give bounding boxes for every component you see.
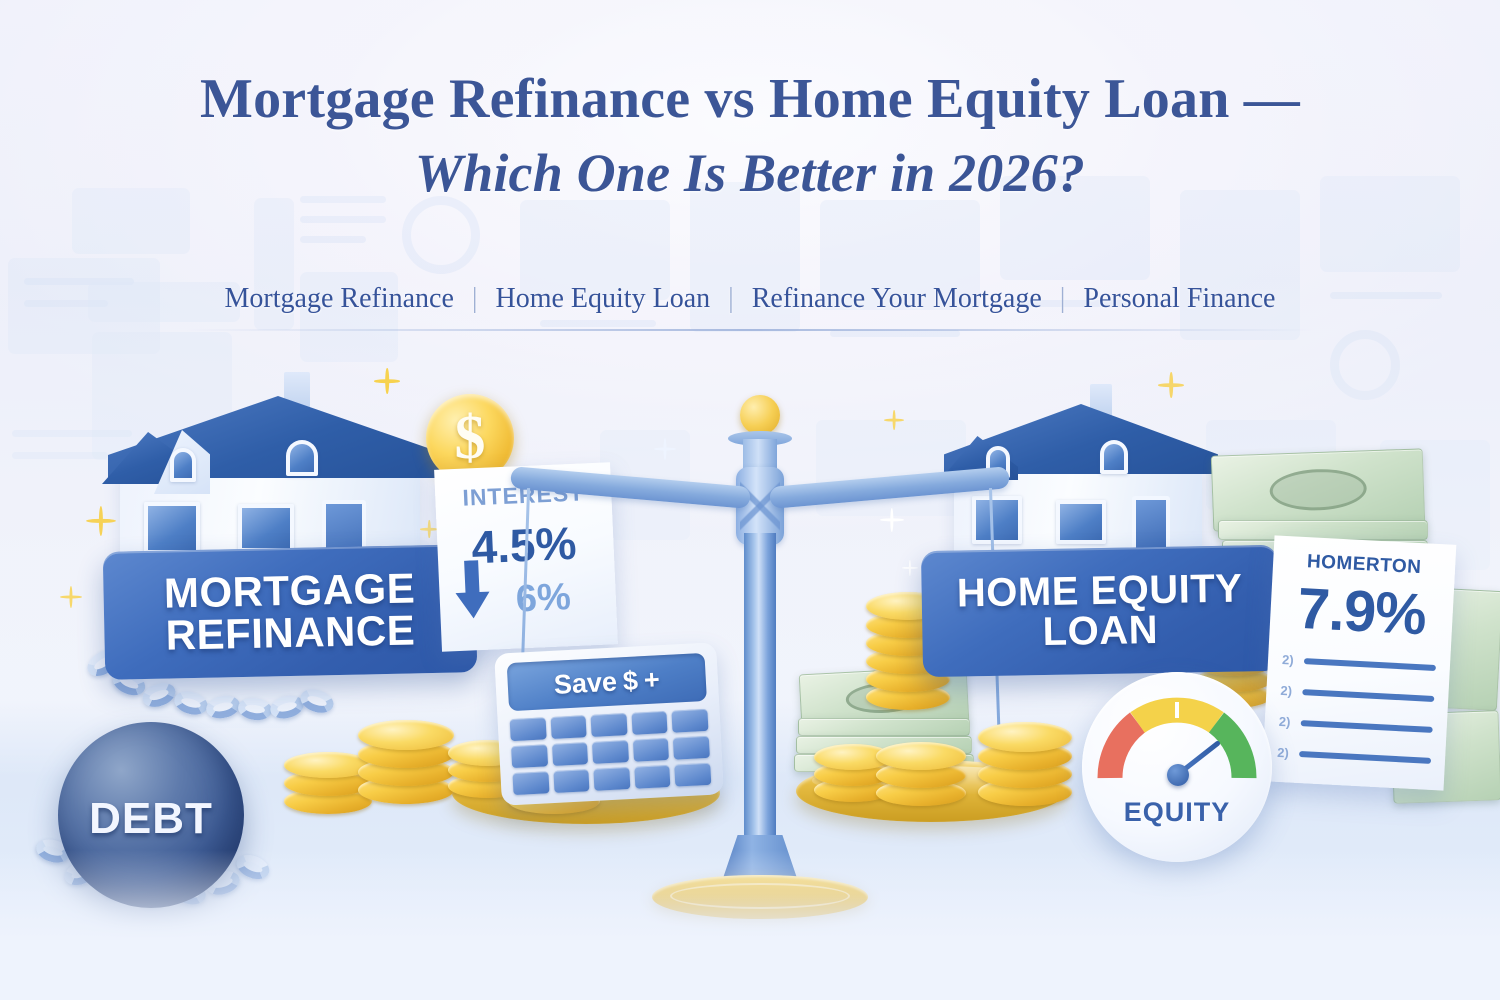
tag-separator: | [472,283,478,315]
arrow-down-icon [452,560,493,622]
sign-line-2: LOAN [1042,610,1158,652]
calculator-key[interactable] [634,765,671,789]
tag-item-2[interactable]: Refinance Your Mortgage [752,283,1042,315]
calculator-key[interactable] [511,744,548,768]
calculator-icon[interactable]: Save $ + [494,642,724,805]
rate-document-row: 2) [1277,745,1432,768]
foreground-haze [0,850,1500,1000]
calculator-key[interactable] [672,709,709,733]
sparkle-icon [86,506,116,536]
tag-item-0[interactable]: Mortgage Refinance [225,283,454,315]
calculator-key[interactable] [594,767,631,791]
row-mark: 2) [1280,683,1295,699]
infographic-banner: Mortgage Refinance vs Home Equity Loan —… [0,0,1500,1000]
calculator-key[interactable] [510,717,547,741]
title-line-1: Mortgage Refinance vs Home Equity Loan — [0,70,1500,129]
rate-document-row: 2) [1282,652,1437,675]
calculator-key[interactable] [552,742,589,766]
row-bar [1304,658,1436,671]
sign-line-2: REFINANCE [165,609,415,656]
scale-column [744,533,776,843]
calculator-key[interactable] [591,713,628,737]
calculator-key[interactable] [633,738,670,762]
row-bar [1302,689,1434,702]
rate-document-row: 2) [1278,714,1433,737]
row-bar [1299,750,1431,763]
rate-document-rate: 7.9% [1269,573,1454,649]
calculator-key[interactable] [553,769,590,793]
rate-document-rows: 2) 2) 2) 2) [1276,652,1436,784]
calculator-screen-symbol: $ [622,665,639,697]
scale-finial [740,395,780,435]
category-tagline: Mortgage Refinance | Home Equity Loan | … [0,283,1500,331]
equity-gauge: EQUITY [1082,672,1272,862]
calculator-screen-plus: + [643,664,660,696]
tag-item-1[interactable]: Home Equity Loan [496,283,711,315]
calculator-screen-text: Save [553,666,618,700]
sparkle-icon [374,368,400,394]
home-equity-loan-sign[interactable]: HOME EQUITY LOAN [921,545,1279,677]
rate-document: HOMERTON 7.9% 2) 2) 2) 2) [1262,535,1457,790]
page-title: Mortgage Refinance vs Home Equity Loan —… [0,70,1500,203]
row-bar [1301,720,1433,733]
row-mark: 2) [1277,745,1292,761]
debt-ball-label: DEBT [89,794,213,844]
row-mark: 2) [1282,652,1297,668]
gauge-hub [1167,764,1189,786]
calculator-key[interactable] [631,711,668,735]
calculator-key[interactable] [512,771,549,795]
calculator-keypad[interactable] [510,709,712,795]
tag-separator: | [728,283,734,315]
gauge-label: EQUITY [1082,797,1272,828]
title-line-2: Which One Is Better in 2026? [0,145,1500,202]
tag-item-3[interactable]: Personal Finance [1083,283,1275,315]
tag-separator: | [1060,283,1066,315]
calculator-key[interactable] [675,763,712,787]
calculator-screen: Save $ + [507,653,707,711]
sparkle-icon [60,586,82,608]
sparkle-icon [1158,372,1184,398]
tagline-divider [185,329,1315,331]
row-mark: 2) [1278,714,1293,730]
dollar-symbol: $ [455,403,486,474]
calculator-key[interactable] [592,740,629,764]
calculator-key[interactable] [673,736,710,760]
sign-line-1: HOME EQUITY [957,569,1243,614]
rate-document-row: 2) [1280,683,1435,706]
calculator-key[interactable] [550,715,587,739]
mortgage-refinance-sign[interactable]: MORTGAGE REFINANCE [103,544,478,680]
sparkle-icon [420,520,438,538]
